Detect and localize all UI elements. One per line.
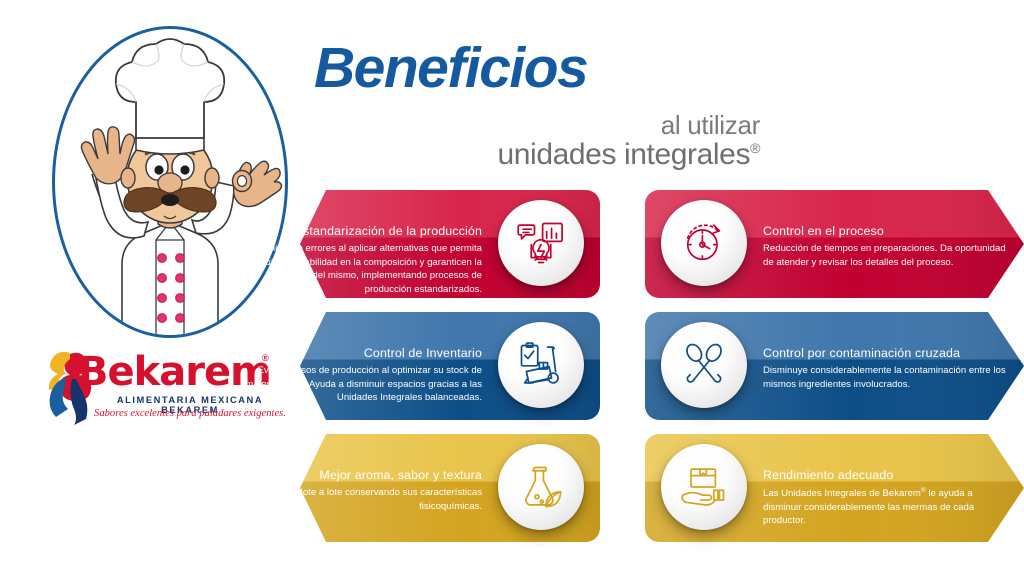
- benefit-icon-badge: [661, 200, 747, 286]
- box-on-hand-icon: [678, 461, 730, 513]
- benefit-icon-badge: [661, 322, 747, 408]
- benefit-icon-badge: [498, 200, 584, 286]
- clock-arrow-icon: [678, 217, 730, 269]
- hand-truck-clipboard-icon: [515, 339, 567, 391]
- benefit-title: Control por contaminación cruzada: [763, 346, 960, 360]
- benefit-icon-badge: [498, 444, 584, 530]
- logo-registered-mark: ®: [262, 353, 269, 363]
- page-title: Beneficios al utilizar unidades integral…: [300, 24, 770, 164]
- benefit-description: Estandariza lote a lote conservando sus …: [237, 486, 482, 513]
- benefit-card-estandarizacion-de-la-produccion[interactable]: Estandarización de la producciónSe minim…: [300, 190, 600, 298]
- benefit-card-control-de-inventario[interactable]: Control de InventarioEvita retrasos de p…: [300, 312, 600, 420]
- title-sub-line2-text: unidades integrales: [497, 138, 750, 171]
- infographic-canvas: Bekarem ® ALIMENTARIA MEXICANA BEKAREM S…: [0, 0, 1024, 576]
- benefit-icon-badge: [498, 322, 584, 408]
- benefit-title: Control de Inventario: [364, 346, 482, 360]
- benefit-title: Mejor aroma, sabor y textura: [319, 468, 482, 482]
- benefit-title: Rendimiento adecuado: [763, 468, 893, 482]
- flask-leaf-icon: [515, 461, 567, 513]
- logo-tagline-italic: Sabores excelentes para paladares exigen…: [86, 408, 294, 419]
- benefit-title: Control en el proceso: [763, 224, 884, 238]
- benefit-description: Disminuye considerablemente la contamina…: [763, 364, 1013, 391]
- title-registered-mark: ®: [750, 140, 760, 156]
- benefit-card-mejor-aroma-sabor-y-textura[interactable]: Mejor aroma, sabor y texturaEstandariza …: [300, 434, 600, 542]
- title-sub-line1: al utilizar: [300, 112, 760, 138]
- title-sub-line2: unidades integrales®: [300, 140, 760, 170]
- crossed-spoons-icon: [678, 339, 730, 391]
- title-main: Beneficios: [314, 40, 587, 97]
- lightbulb-chart-icon: [515, 217, 567, 269]
- benefit-title: Estandarización de la producción: [295, 224, 482, 238]
- benefit-description: Se minimizan errores al aplicar alternat…: [237, 242, 482, 296]
- benefit-card-rendimiento-adecuado[interactable]: Rendimiento adecuadoLas Unidades Integra…: [645, 434, 1024, 542]
- benefit-description: Evita retrasos de producción al optimiza…: [237, 364, 482, 405]
- benefit-icon-badge: [661, 444, 747, 530]
- benefit-description: Reducción de tiempos en preparaciones. D…: [763, 242, 1013, 269]
- benefit-card-control-en-el-proceso[interactable]: Control en el procesoReducción de tiempo…: [645, 190, 1024, 298]
- benefit-description: Las Unidades Integrales de Bekarem® le a…: [763, 486, 1013, 528]
- benefit-card-control-por-contaminacion-cruzada[interactable]: Control por contaminación cruzadaDisminu…: [645, 312, 1024, 420]
